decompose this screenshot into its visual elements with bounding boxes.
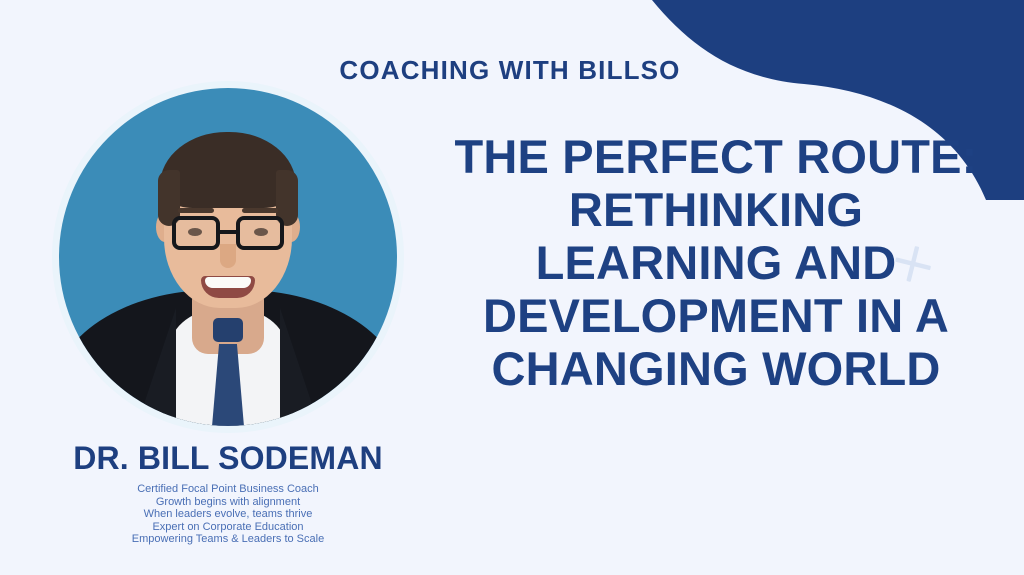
speaker-block: DR. BILL SODEMAN Certified Focal Point B…: [18, 88, 438, 546]
credential-line: Expert on Corporate Education: [18, 521, 438, 534]
portrait-eyeglass-right: [236, 216, 284, 250]
credential-line: Certified Focal Point Business Coach: [18, 483, 438, 496]
headline-line: CHANGING WORLD: [418, 342, 1014, 395]
portrait-nose: [220, 244, 236, 268]
credential-line: When leaders evolve, teams thrive: [18, 508, 438, 521]
portrait-lapel-left: [132, 308, 176, 426]
portrait-smile: [201, 276, 255, 298]
portrait-eyebrow-right: [242, 208, 278, 213]
portrait-eyebrow-left: [178, 208, 214, 213]
kicker-brand-line: COACHING WITH BILLSO: [0, 55, 1024, 86]
portrait-lapel-right: [280, 308, 324, 426]
headline-line: THE PERFECT ROUTE:: [418, 130, 1014, 183]
portrait-eyeglass-left: [172, 216, 220, 250]
portrait-eyeglass-bridge: [220, 230, 236, 234]
credential-line: Empowering Teams & Leaders to Scale: [18, 533, 438, 546]
speaker-credentials: Certified Focal Point Business Coach Gro…: [18, 483, 438, 546]
speaker-name: DR. BILL SODEMAN: [18, 440, 438, 477]
headline-line: DEVELOPMENT IN A: [418, 289, 1014, 342]
portrait-teeth: [205, 277, 251, 288]
page-title: THE PERFECT ROUTE: RETHINKING LEARNING A…: [418, 130, 1014, 395]
title-slide: COACHING WITH BILLSO: [0, 0, 1024, 575]
headline-line: RETHINKING: [418, 183, 1014, 236]
headline-line: LEARNING AND: [418, 236, 1014, 289]
portrait-tie-knot: [213, 318, 243, 342]
speaker-portrait: [59, 88, 397, 426]
credential-line: Growth begins with alignment: [18, 496, 438, 509]
